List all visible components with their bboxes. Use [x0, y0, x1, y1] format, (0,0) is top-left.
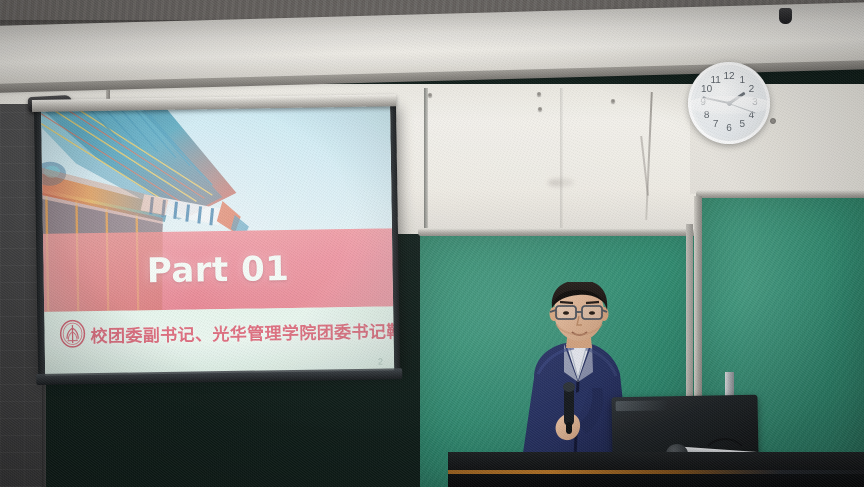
clock-hour-12: 12 — [722, 71, 736, 83]
wall-panel-seam — [560, 88, 563, 234]
slide-subtitle-text: 校团委副书记、光华管理学院团委书记鞠晓致辞 — [90, 312, 388, 351]
wall-smudge-2 — [548, 180, 562, 186]
wall-screw — [428, 93, 432, 97]
ceiling-sensor-icon — [779, 8, 792, 24]
slide-part-title: Part 01 — [43, 234, 393, 305]
podium-front-panel — [448, 474, 864, 487]
clock-hour-6: 6 — [722, 123, 736, 135]
chalkboard-frame-top-left — [418, 228, 698, 236]
clock-hour-11: 11 — [709, 75, 723, 87]
wall-screw — [538, 107, 542, 111]
clock-hour-2: 2 — [744, 84, 758, 96]
projection-screen[interactable]: Part 01 校团委副书记、光华管理学院团委书记鞠晓致辞 2 — [34, 102, 400, 376]
peking-university-seal-icon — [58, 319, 86, 349]
wall-screw — [611, 99, 615, 103]
wall-clock: 12 1 2 3 4 5 6 7 8 9 10 11 — [688, 62, 770, 144]
clock-hour-5: 5 — [735, 119, 749, 131]
presentation-slide: Part 01 校团委副书记、光华管理学院团委书记鞠晓致辞 2 — [41, 102, 394, 375]
chalkboard-frame-top-right — [696, 190, 864, 198]
clock-glass-glare — [688, 96, 770, 114]
clock-wall-anchor — [770, 118, 776, 124]
wall-screw — [537, 92, 541, 96]
lecture-hall-photo: Part 01 校团委副书记、光华管理学院团委书记鞠晓致辞 2 — [0, 0, 864, 487]
monitor-screen-glare — [616, 400, 668, 411]
wall-panel-seam-left — [424, 88, 428, 234]
slide-page-number: 2 — [378, 357, 383, 367]
